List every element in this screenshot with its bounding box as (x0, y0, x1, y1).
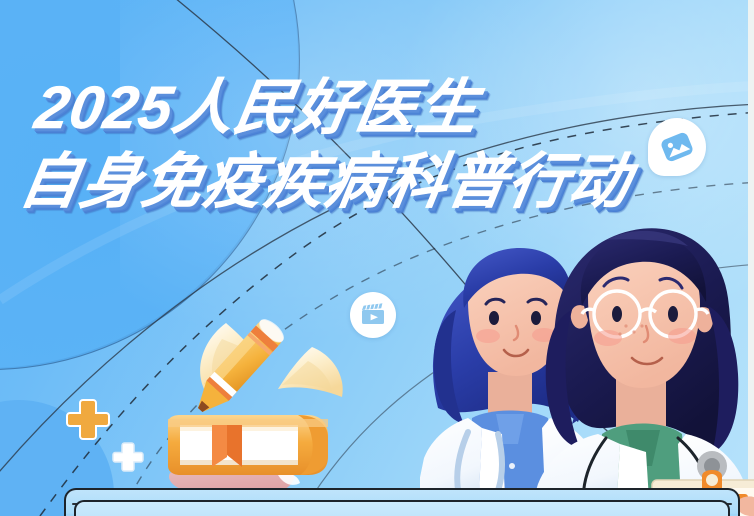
poster-canvas: 2025人民好医生 自身免疫疾病科普行动 (0, 0, 754, 516)
book-icon (168, 415, 328, 475)
plus-cross-orange-icon (66, 396, 110, 440)
wing-right-icon (278, 347, 343, 397)
image-photo-icon (660, 130, 694, 164)
eye-left (489, 311, 499, 325)
eye-right (668, 306, 678, 322)
title-line-2: 自身免疫疾病科普行动 (15, 152, 725, 212)
title-line-1: 2025人民好医生 (27, 78, 737, 138)
plus-cross-white-icon (112, 440, 144, 472)
eye-right (531, 311, 541, 325)
desk-panel-inner (74, 500, 730, 516)
eye-left (612, 306, 622, 322)
image-photo-badge[interactable] (648, 118, 706, 176)
two-female-doctors-illustration (420, 222, 754, 516)
poster-title: 2025人民好医生 自身免疫疾病科普行动 (15, 78, 736, 212)
winged-pencil-and-book-illustration (160, 305, 370, 516)
